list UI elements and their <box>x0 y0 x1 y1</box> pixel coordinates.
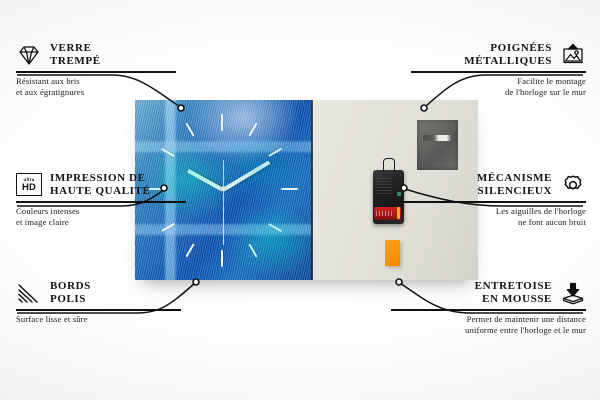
feature-header: ultra HD IMPRESSION DE HAUTE QUALITÉ <box>16 172 186 198</box>
feature-title-line2: SILENCIEUX <box>477 185 552 198</box>
feature-desc-line1: Surface lisse et sûre <box>16 314 181 326</box>
hour-marker <box>268 223 282 233</box>
clock-minute-hand <box>222 160 270 191</box>
hour-marker <box>281 188 298 190</box>
infographic-canvas: VERRE TREMPÉ Résistant aux bris et aux é… <box>0 0 600 400</box>
feature-title-line1: BORDS <box>50 280 91 293</box>
battery <box>374 207 400 220</box>
metal-hanger-plate <box>417 120 459 170</box>
feature-desc-line2: de l'horloge sur le mur <box>411 87 586 99</box>
feature-description: Résistant aux bris et aux égratignures <box>16 76 176 99</box>
feature-description: Facilite le montage de l'horloge sur le … <box>411 76 586 99</box>
feature-description: Surface lisse et sûre <box>16 314 181 326</box>
feature-title-line1: MÉCANISME <box>477 172 552 185</box>
battery-label <box>376 211 393 216</box>
hour-marker <box>221 114 223 131</box>
feature-desc-line1: Facilite le montage <box>411 76 586 88</box>
feature-entretoise-en-mousse: ENTRETOISE EN MOUSSE Permet de maintenir… <box>391 280 586 337</box>
hour-marker <box>248 122 258 136</box>
feature-divider <box>16 201 186 203</box>
feature-header: ENTRETOISE EN MOUSSE <box>391 280 586 306</box>
hour-marker <box>161 148 175 158</box>
feature-mecanisme-silencieux: MÉCANISME SILENCIEUX Les aiguilles de l'… <box>401 172 586 229</box>
feature-desc-line2: et image claire <box>16 217 186 229</box>
gear-icon <box>560 173 586 197</box>
hanger-slot <box>423 135 450 142</box>
hour-marker <box>221 250 223 267</box>
diamond-icon <box>16 43 42 67</box>
mechanism-detail <box>376 178 392 196</box>
feature-desc-line1: Les aiguilles de l'horloge <box>401 206 586 218</box>
feature-divider <box>401 201 586 203</box>
feature-title: BORDS POLIS <box>50 280 91 306</box>
polished-edge-icon <box>16 281 42 305</box>
feature-title-line2: TREMPÉ <box>50 55 101 68</box>
feature-desc-line1: Permet de maintenir une distance <box>391 314 586 326</box>
arrow-down-pad-icon <box>560 281 586 305</box>
ultra-hd-icon: ultra HD <box>16 173 42 196</box>
feature-desc-line2: ne font aucun bruit <box>401 217 586 229</box>
feature-title-line2: HAUTE QUALITÉ <box>50 185 150 198</box>
feature-title: MÉCANISME SILENCIEUX <box>477 172 552 198</box>
battery-plus-terminal <box>397 207 401 219</box>
feature-title-line2: EN MOUSSE <box>475 293 552 306</box>
feature-divider <box>411 71 586 73</box>
feature-desc-line1: Résistant aux bris <box>16 76 176 88</box>
feature-header: BORDS POLIS <box>16 280 181 306</box>
feature-desc-line2: uniforme entre l'horloge et le mur <box>391 325 586 337</box>
feature-title: ENTRETOISE EN MOUSSE <box>475 280 552 306</box>
clock-hour-hand <box>187 169 224 192</box>
clock-center-cap <box>221 186 226 191</box>
feature-description: Les aiguilles de l'horloge ne font aucun… <box>401 206 586 229</box>
feature-title-line1: ENTRETOISE <box>475 280 552 293</box>
feature-divider <box>16 71 176 73</box>
feature-header: VERRE TREMPÉ <box>16 42 176 68</box>
feature-title-line2: POLIS <box>50 293 91 306</box>
hour-marker <box>248 243 258 257</box>
foam-spacer-pad <box>385 240 400 265</box>
feature-divider <box>16 309 181 311</box>
feature-desc-line2: et aux égratignures <box>16 87 176 99</box>
feature-bords-polis: BORDS POLIS Surface lisse et sûre <box>16 280 181 325</box>
feature-title-line1: POIGNÉES <box>464 42 552 55</box>
feature-verre-trempe: VERRE TREMPÉ Résistant aux bris et aux é… <box>16 42 176 99</box>
feature-title-line2: MÉTALLIQUES <box>464 55 552 68</box>
feature-poignees-metalliques: POIGNÉES MÉTALLIQUES Facilite le montage… <box>411 42 586 99</box>
mechanism-hook <box>383 158 395 172</box>
clock-second-hand <box>223 160 224 245</box>
feature-header: POIGNÉES MÉTALLIQUES <box>411 42 586 68</box>
clock-mechanism-box <box>373 170 405 224</box>
feature-title-line1: IMPRESSION DE <box>50 172 150 185</box>
feature-desc-line1: Couleurs intenses <box>16 206 186 218</box>
hour-marker <box>268 148 282 158</box>
feature-title-line1: VERRE <box>50 42 101 55</box>
hour-marker <box>185 122 195 136</box>
hour-marker <box>185 243 195 257</box>
feature-title: IMPRESSION DE HAUTE QUALITÉ <box>50 172 150 198</box>
feature-title: POIGNÉES MÉTALLIQUES <box>464 42 552 68</box>
feature-title: VERRE TREMPÉ <box>50 42 101 68</box>
feature-description: Couleurs intenses et image claire <box>16 206 186 229</box>
feature-impression-haute-qualite: ultra HD IMPRESSION DE HAUTE QUALITÉ Cou… <box>16 172 186 229</box>
panel-seam <box>311 100 313 280</box>
feature-description: Permet de maintenir une distance uniform… <box>391 314 586 337</box>
feature-header: MÉCANISME SILENCIEUX <box>401 172 586 198</box>
feature-divider <box>391 309 586 311</box>
ultra-hd-icon-main-text: HD <box>22 183 36 193</box>
hanging-frame-icon <box>560 43 586 67</box>
